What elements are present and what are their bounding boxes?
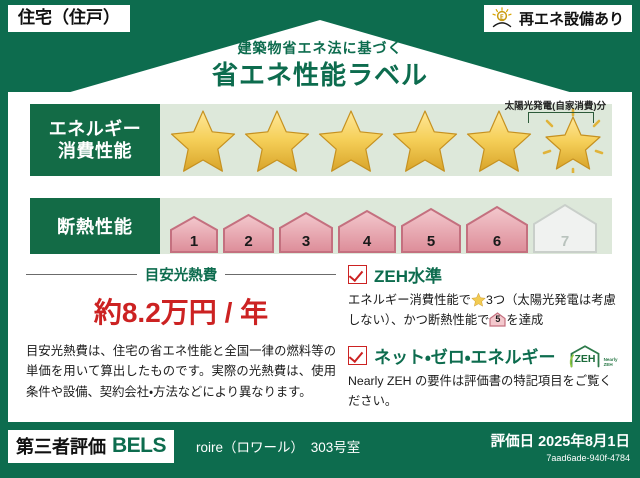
sun-solar-icon: [490, 7, 514, 29]
net-zero-title: ネット・ゼロ・エネルギー: [374, 343, 556, 368]
net-zero-heading: ネット・ゼロ・エネルギー ZEH Nearly ZEH: [348, 343, 620, 368]
footer-band: 第三者評価 BELS roire（ロワール） 303号室 評価日 2025年8月…: [0, 424, 640, 478]
inline-star-icon: [471, 292, 486, 307]
energy-caption-line2: 消費性能: [58, 140, 132, 163]
star-icon-5: [464, 107, 534, 173]
evaluation-id: 7aad6ade-940f-4784: [491, 453, 630, 463]
house-icon-level-6: 6: [464, 204, 530, 254]
house-level-number: 5: [399, 233, 463, 250]
label-title: 省エネ性能ラベル: [0, 55, 640, 92]
house-icon-level-7: 7: [531, 202, 599, 254]
energy-performance-row: エネルギー 消費性能: [30, 104, 612, 188]
renewable-equipment-label: 再エネ設備あり: [519, 8, 624, 29]
solar-bracket: [528, 112, 594, 123]
zeh-standard-description: エネルギー消費性能で 3つ（太陽光発電は考慮しない）、かつ断熱性能で 5 を達成: [348, 291, 620, 330]
energy-performance-caption: エネルギー 消費性能: [30, 104, 160, 176]
bels-mark-label: BELS: [112, 434, 166, 458]
zeh-logo-subtext: Nearly ZEH: [604, 358, 618, 368]
house-level-number: 7: [531, 233, 599, 250]
zeh-standard-heading: ZEH水準: [348, 262, 620, 287]
dwelling-type-label: 住宅（住戸）: [18, 8, 120, 27]
house-level-number: 2: [221, 233, 276, 250]
dwelling-type-badge: 住宅（住戸）: [8, 5, 130, 32]
house-icon-level-3: 3: [277, 210, 335, 254]
cost-column: 目安光熱費 約8.2万円 / 年 目安光熱費は、住宅の省エネ性能と全国一律の燃料…: [26, 262, 336, 402]
house-level-number: 6: [464, 233, 530, 250]
insulation-performance-row: 断熱性能 1 2: [30, 198, 612, 258]
star-icon-4: [390, 107, 460, 173]
insulation-level-scale: 1 2 3 4: [160, 198, 612, 254]
energy-caption-line1: エネルギー: [49, 118, 142, 141]
divider-right: [225, 274, 336, 275]
house-level-number: 4: [336, 233, 398, 250]
energy-star-rating: [160, 104, 612, 176]
details-columns: 目安光熱費 約8.2万円 / 年 目安光熱費は、住宅の省エネ性能と全国一律の燃料…: [8, 262, 632, 420]
estimated-cost-value: 約8.2万円 / 年: [26, 291, 336, 331]
solar-contribution-note: 太陽光発電(自家消費)分: [505, 98, 606, 112]
evaluation-date: 評価日 2025年8月1日: [491, 430, 630, 451]
label-body-card: エネルギー 消費性能: [8, 92, 632, 422]
inline-house-level-number: 5: [489, 312, 506, 326]
svg-text:ZEH: ZEH: [574, 353, 595, 365]
house-level-number: 1: [168, 233, 220, 250]
checkbox-checked-icon: [348, 265, 367, 284]
zeh-standard-title: ZEH水準: [374, 262, 442, 287]
insulation-caption: 断熱性能: [30, 198, 160, 254]
zeh-logo: ZEH Nearly ZEH: [567, 344, 618, 368]
star-icon-2: [242, 107, 312, 173]
certification-column: ZEH水準 エネルギー消費性能で 3つ（太陽光発電は考慮しない）、かつ断熱性能で…: [348, 262, 620, 412]
divider-left: [26, 274, 137, 275]
house-icon-level-1: 1: [168, 214, 220, 254]
checkbox-checked-icon: [348, 346, 367, 365]
zeh-desc-part1: エネルギー消費性能で: [348, 293, 471, 307]
bels-badge: 第三者評価 BELS: [8, 430, 174, 463]
house-icon-level-5: 5: [399, 206, 463, 254]
zeh-logo-sub-line2: ZEH: [604, 362, 613, 367]
house-icon-level-2: 2: [221, 212, 276, 254]
renewable-equipment-badge: 再エネ設備あり: [484, 5, 632, 32]
inline-house-level-icon: 5: [489, 312, 506, 327]
evaluation-info: 評価日 2025年8月1日 7aad6ade-940f-4784: [491, 430, 630, 463]
cost-heading-label: 目安光熱費: [145, 264, 218, 285]
third-party-eval-label: 第三者評価: [16, 433, 106, 459]
zeh-desc-part3: を達成: [506, 313, 543, 327]
cost-heading: 目安光熱費: [26, 264, 336, 285]
energy-performance-label: 住宅（住戸） 再エネ設備あり 建築物省エネ: [0, 0, 640, 478]
net-zero-description: Nearly ZEH の要件は評価書の特記項目をご覧ください。: [348, 372, 620, 411]
star-icon-1: [168, 107, 238, 173]
property-name: roire（ロワール） 303号室: [196, 436, 360, 456]
house-level-number: 3: [277, 233, 335, 250]
insulation-caption-label: 断熱性能: [57, 213, 133, 239]
cost-disclaimer: 目安光熱費は、住宅の省エネ性能と全国一律の燃料等の単価を用いて算出したものです。…: [26, 341, 336, 402]
house-icon-level-4: 4: [336, 208, 398, 254]
star-icon-3: [316, 107, 386, 173]
